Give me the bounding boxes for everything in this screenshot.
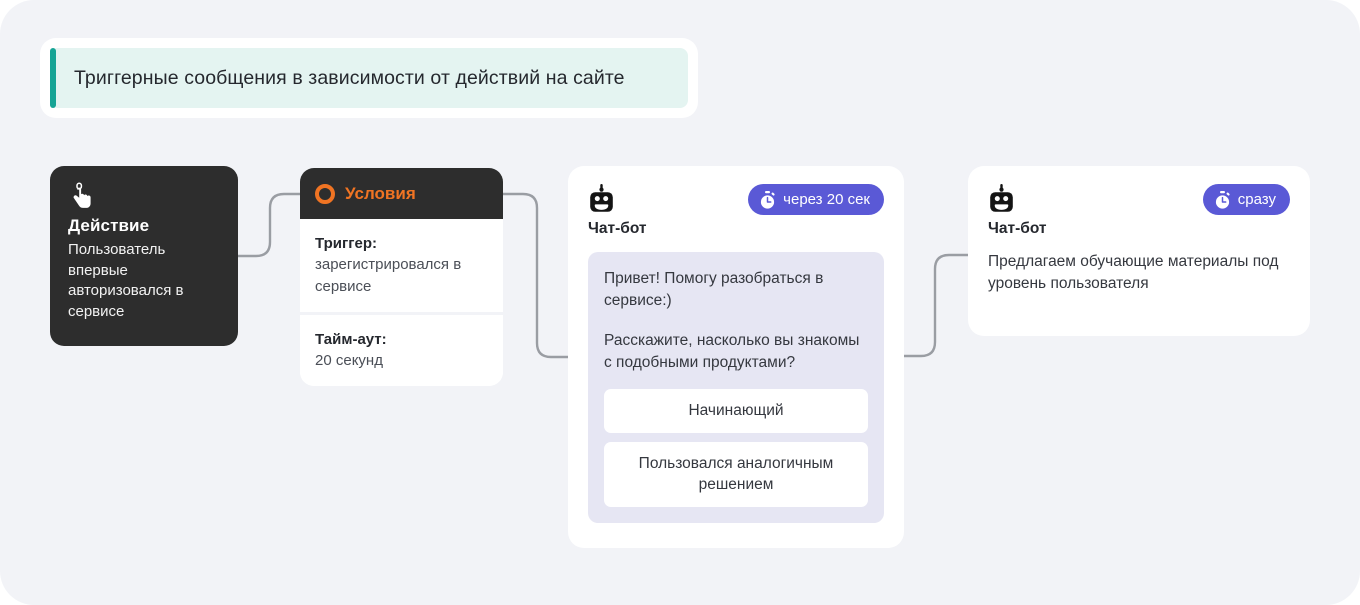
delay-badge-through-20s: через 20 сек <box>748 184 884 215</box>
pointing-hand-icon <box>68 182 94 210</box>
action-card-body: Пользователь впервые авторизовался в сер… <box>68 240 220 323</box>
banner-inner: Триггерные сообщения в зависимости от де… <box>50 48 688 108</box>
conditions-trigger-value: зарегистрировался в сервисе <box>315 254 488 297</box>
conditions-trigger-key: Триггер: <box>315 233 488 254</box>
conditions-card-header-label: Условия <box>345 184 416 204</box>
chatbot-message-bubble: Привет! Помогу разобраться в сервисе:) Р… <box>588 252 884 523</box>
bubble-paragraph-2: Расскажите, насколько вы знакомы с подоб… <box>604 330 868 375</box>
connector-conditions-to-bot1 <box>503 194 568 357</box>
action-card-title: Действие <box>68 216 220 236</box>
conditions-timeout-value: 20 секунд <box>315 350 488 371</box>
chatbot-card-first[interactable]: Чат-бот через 20 сек Привет! Помогу разо… <box>568 166 904 548</box>
action-card[interactable]: Действие Пользователь впервые авторизова… <box>50 166 238 346</box>
bubble-option-beginner[interactable]: Начинающий <box>604 389 868 433</box>
connector-bot1-to-bot2 <box>904 255 968 356</box>
stopwatch-icon <box>759 191 776 209</box>
conditions-section-timeout: Тайм-аут: 20 секунд <box>300 312 503 387</box>
chatbot-card-first-title: Чат-бот <box>588 220 884 238</box>
bubble-options-list: Начинающий Пользовался аналогичным решен… <box>604 389 868 507</box>
delay-badge-immediate: сразу <box>1203 184 1290 215</box>
robot-icon <box>588 184 615 214</box>
delay-badge-second-label: сразу <box>1238 191 1276 208</box>
conditions-timeout-key: Тайм-аут: <box>315 329 488 350</box>
conditions-section-trigger: Триггер: зарегистрировался в сервисе <box>300 219 503 312</box>
banner-title: Триггерные сообщения в зависимости от де… <box>50 67 625 90</box>
orange-ring-icon <box>315 184 335 204</box>
chatbot-card-second-body: Предлагаем обучающие материалы под урове… <box>988 251 1290 296</box>
delay-badge-first-label: через 20 сек <box>783 191 870 208</box>
header-banner: Триггерные сообщения в зависимости от де… <box>40 38 698 118</box>
conditions-card-header: Условия <box>300 168 503 219</box>
chatbot-card-second-title: Чат-бот <box>988 220 1290 238</box>
stopwatch-icon <box>1214 191 1231 209</box>
chatbot-card-second-header: Чат-бот сразу <box>988 184 1290 238</box>
conditions-card[interactable]: Условия Триггер: зарегистрировался в сер… <box>300 168 503 386</box>
connector-action-to-conditions <box>238 194 300 256</box>
banner-accent-bar <box>50 48 56 108</box>
bubble-paragraph-1: Привет! Помогу разобраться в сервисе:) <box>604 268 868 313</box>
robot-icon <box>988 184 1015 214</box>
bubble-option-experienced[interactable]: Пользовался аналогичным решением <box>604 442 868 507</box>
chatbot-card-second[interactable]: Чат-бот сразу Предлагаем обучающие матер… <box>968 166 1310 336</box>
chatbot-card-first-header: Чат-бот через 20 сек <box>588 184 884 238</box>
flow-diagram-canvas: Триггерные сообщения в зависимости от де… <box>0 0 1360 605</box>
